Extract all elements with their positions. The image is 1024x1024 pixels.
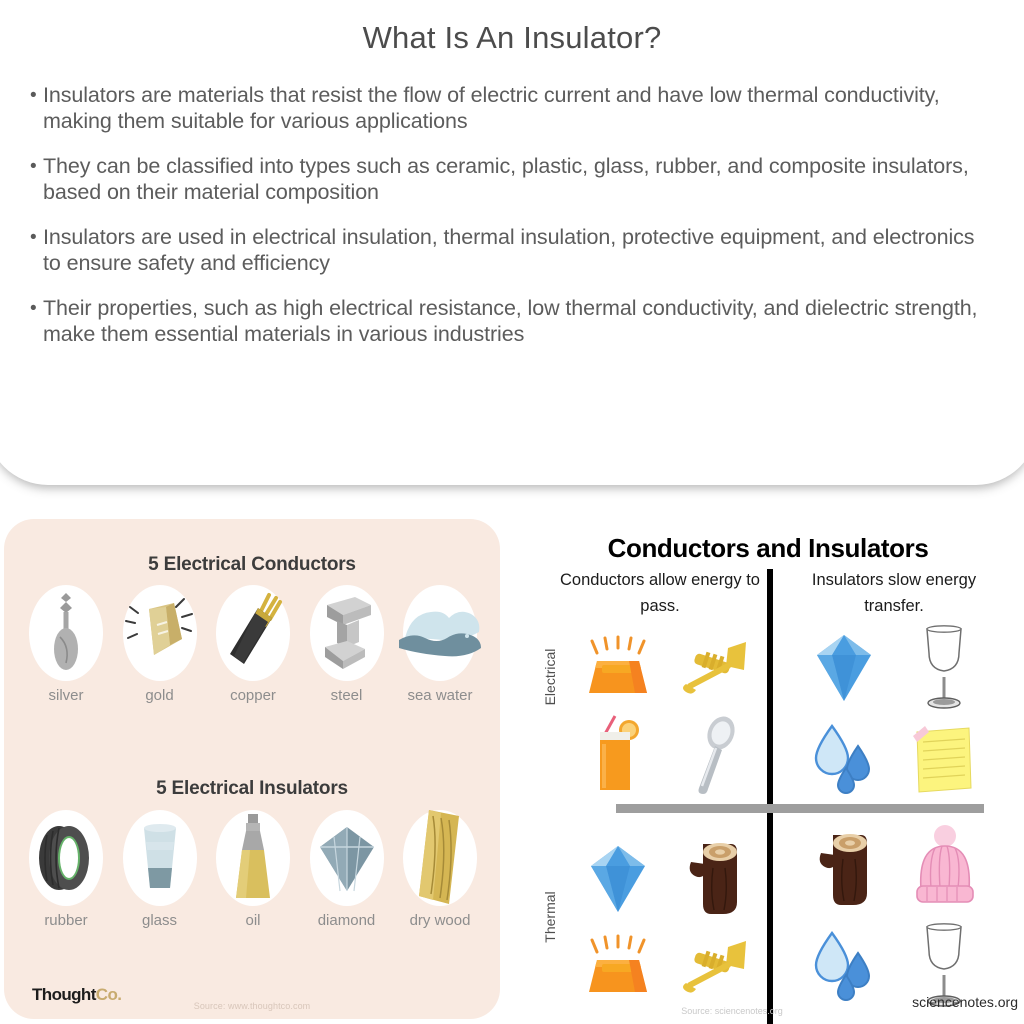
trumpet-icon (666, 631, 762, 708)
oil-bottle-icon (216, 810, 290, 906)
icon-label: oil (209, 912, 297, 929)
bullet-text: Their properties, such as high electrica… (43, 295, 996, 347)
insulators-heading: 5 Electrical Insulators (4, 778, 500, 800)
insulators-column-subtitle: Insulators slow energy transfer. (784, 567, 1004, 619)
insulators-icon-row: rubber glass (22, 810, 484, 929)
quadrant-thermal-insulators (794, 821, 994, 1013)
vertical-divider (767, 569, 773, 1024)
right-source-text: Source: sciencenotes.org (612, 1006, 852, 1016)
icon-label: sea water (396, 687, 484, 704)
bullet-text: They can be classified into types such a… (43, 153, 996, 205)
spoon-icon (666, 708, 762, 801)
diamond-icon (570, 829, 666, 929)
list-item: glass (116, 810, 204, 929)
sticky-note-icon (894, 716, 994, 801)
icon-label: dry wood (396, 912, 484, 929)
horizontal-divider (616, 804, 984, 813)
spoon-icon (29, 585, 103, 681)
gold-bar-icon (570, 631, 666, 708)
diamond-icon (794, 619, 894, 716)
list-item: dry wood (396, 810, 484, 929)
list-item: silver (22, 585, 110, 704)
drinking-glass-icon (123, 810, 197, 906)
bullet-marker: • (30, 295, 43, 322)
tire-icon (29, 810, 103, 906)
wood-log-icon (666, 829, 762, 929)
quadrant-electrical-conductors (570, 631, 762, 801)
list-item: oil (209, 810, 297, 929)
conductors-heading: 5 Electrical Conductors (4, 554, 500, 576)
wave-icon (403, 585, 477, 681)
slide-card: What Is An Insulator? • Insulators are m… (0, 0, 1024, 485)
list-item: gold (116, 585, 204, 704)
icon-label: glass (116, 912, 204, 929)
icon-label: copper (209, 687, 297, 704)
icon-label: gold (116, 687, 204, 704)
icon-label: silver (22, 687, 110, 704)
wood-plank-icon (403, 810, 477, 906)
gold-bar-icon (123, 585, 197, 681)
quadrant-thermal-conductors (570, 829, 762, 1009)
wood-log-icon (794, 821, 894, 918)
sciencenotes-infographic: Conductors and Insulators Conductors all… (512, 519, 1024, 1024)
bullet-text: Insulators are materials that resist the… (43, 82, 996, 134)
icon-label: rubber (22, 912, 110, 929)
list-item: steel (303, 585, 391, 704)
left-source-text: Source: www.thoughtco.com (4, 1001, 500, 1011)
gold-bar-icon (570, 929, 666, 1009)
copper-cable-icon (216, 585, 290, 681)
right-panel-title: Conductors and Insulators (512, 533, 1024, 564)
water-drops-icon (794, 716, 894, 801)
list-item: diamond (303, 810, 391, 929)
list-item: • Insulators are materials that resist t… (30, 82, 996, 134)
sciencenotes-watermark: sciencenotes.org (912, 994, 1018, 1010)
diamond-icon (310, 810, 384, 906)
list-item: copper (209, 585, 297, 704)
list-item: • Insulators are used in electrical insu… (30, 224, 996, 276)
thoughtco-infographic: 5 Electrical Conductors silver (4, 519, 500, 1019)
icon-label: diamond (303, 912, 391, 929)
list-item: sea water (396, 585, 484, 704)
knit-hat-icon (894, 821, 994, 918)
bullet-list: • Insulators are materials that resist t… (30, 82, 996, 366)
infographic-page: What Is An Insulator? • Insulators are m… (0, 0, 1024, 1024)
bullet-marker: • (30, 153, 43, 180)
conductors-icon-row: silver (22, 585, 484, 704)
wine-glass-icon (894, 619, 994, 716)
row-label-electrical: Electrical (542, 632, 558, 722)
quadrant-electrical-insulators (794, 619, 994, 801)
bullet-marker: • (30, 224, 43, 251)
conductors-column-subtitle: Conductors allow energy to pass. (550, 567, 770, 619)
bullet-text: Insulators are used in electrical insula… (43, 224, 996, 276)
orange-juice-glass-icon (570, 708, 666, 801)
trumpet-icon (666, 929, 762, 1009)
list-item: • Their properties, such as high electri… (30, 295, 996, 347)
page-title: What Is An Insulator? (0, 20, 1024, 56)
icon-label: steel (303, 687, 391, 704)
steel-beam-icon (310, 585, 384, 681)
water-drops-icon (794, 918, 894, 1013)
row-label-thermal: Thermal (542, 872, 558, 962)
list-item: rubber (22, 810, 110, 929)
bullet-marker: • (30, 82, 43, 109)
list-item: • They can be classified into types such… (30, 153, 996, 205)
